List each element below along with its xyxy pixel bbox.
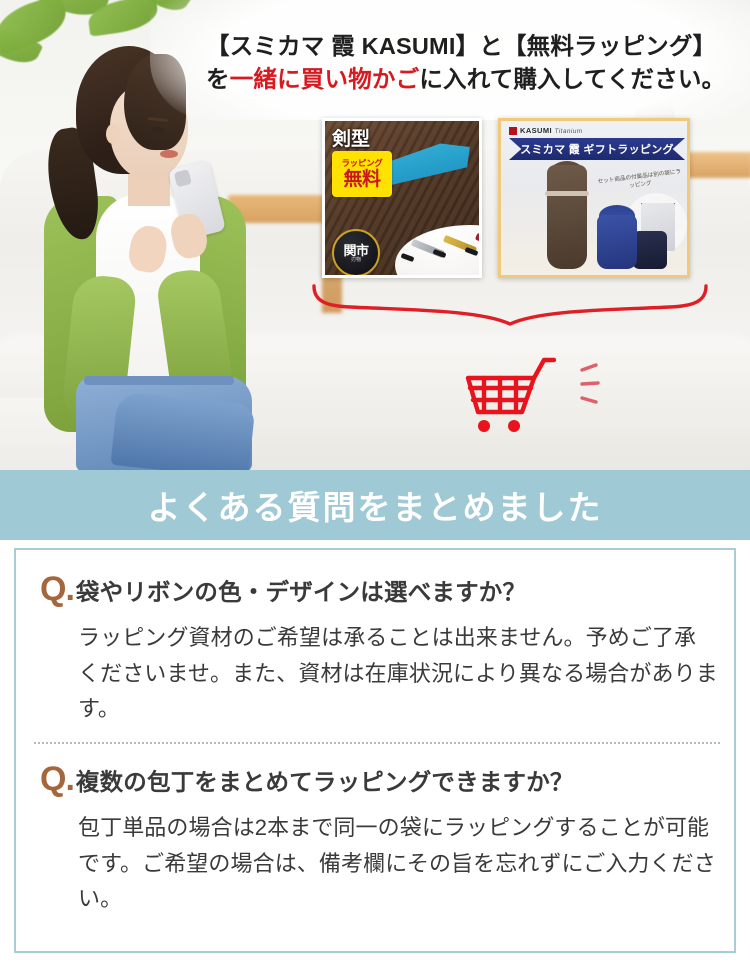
headline-line-2-prefix: を — [206, 66, 230, 92]
headline-highlight: 一緒に買い物かご — [230, 66, 420, 92]
seki-city-seal: 関市 刃物 — [332, 229, 380, 277]
bag-ribbon-tie — [545, 191, 589, 196]
wrapping-note-text: セット商品の付属品は別の袋にラッピング — [596, 168, 683, 195]
jeans-leg — [111, 391, 256, 470]
hero-headline: 【スミカマ 霞 KASUMI】と【無料ラッピング】 を一緒に買い物かごに入れて購… — [206, 30, 740, 97]
faq-item-1: Q. 袋やリボンの色・デザインは選べますか？ ラッピング資材のご希望は承ることは… — [16, 572, 734, 727]
faq-banner: よくある質問をまとめました — [0, 470, 750, 540]
kasumi-brand-name: KASUMI — [520, 126, 552, 135]
faq-answer-2: 包丁単品の場合は2本まで同一の袋にラッピングすることが可能です。ご希望の場合は、… — [78, 810, 718, 917]
faq-question-row-2: Q. 複数の包丁をまとめてラッピングできますか？ — [16, 762, 734, 796]
blue-gift-bag — [597, 215, 637, 269]
thumbnail-gift-wrapping[interactable]: KASUMI Titanium スミカマ 霞 ギフトラッピング セット商品の付属… — [498, 118, 690, 278]
red-bracket-arrow — [310, 282, 710, 328]
phone-camera — [174, 169, 192, 187]
headline-line-1: 【スミカマ 霞 KASUMI】と【無料ラッピング】 — [206, 30, 740, 63]
question-mark-label: Q. — [40, 762, 74, 796]
ear — [106, 124, 120, 144]
faq-question-2: 複数の包丁をまとめてラッピングできますか？ — [76, 768, 574, 796]
faq-question-1: 袋やリボンの色・デザインは選べますか？ — [76, 578, 526, 606]
kasumi-brand-sub: Titanium — [554, 128, 582, 135]
faq-box: Q. 袋やリボンの色・デザインは選べますか？ ラッピング資材のご希望は承ることは… — [14, 548, 736, 953]
faq-item-2: Q. 複数の包丁をまとめてラッピングできますか？ 包丁単品の場合は2本まで同一の… — [16, 762, 734, 917]
gift-wrapping-ribbon: スミカマ 霞 ギフトラッピング — [509, 138, 685, 160]
brown-gift-bag — [547, 165, 587, 269]
headline-line-2: を一緒に買い物かごに入れて購入してください。 — [206, 63, 740, 96]
product-thumbnails: 剣型 ラッピング 無料 関市 刃物 KASUMI Titanium スミカマ 霞… — [322, 118, 690, 286]
thumbnail-knife[interactable]: 剣型 ラッピング 無料 関市 刃物 — [322, 118, 482, 278]
lips — [160, 150, 178, 158]
seal-main-text: 関市 — [343, 244, 368, 257]
thumbnail-knife-title: 剣型 — [332, 124, 370, 151]
kasumi-logo-square — [509, 127, 517, 135]
sparkle-lines-icon — [578, 362, 612, 406]
navy-pouch — [633, 231, 667, 269]
seal-sub-text: 刃物 — [351, 258, 361, 263]
badge-line-1: ラッピング — [341, 159, 382, 168]
headline-line-1-text: 【スミカマ 霞 KASUMI】と【無料ラッピング】 — [206, 33, 716, 59]
headline-line-2-suffix: に入れて購入してください。 — [419, 66, 725, 92]
promo-page: 【スミカマ 霞 KASUMI】と【無料ラッピング】 を一緒に買い物かごに入れて購… — [0, 0, 750, 967]
waistband — [84, 376, 234, 385]
faq-question-row-1: Q. 袋やリボンの色・デザインは選べますか？ — [16, 572, 734, 606]
kasumi-brand-logo: KASUMI Titanium — [509, 126, 583, 135]
ribbon-text: スミカマ 霞 ギフトラッピング — [520, 141, 674, 157]
shopping-cart-icon — [464, 356, 556, 434]
faq-divider — [34, 742, 720, 744]
badge-line-2: 無料 — [343, 170, 380, 189]
question-mark-label: Q. — [40, 572, 74, 606]
faq-answer-1: ラッピング資材のご希望は承ることは出来ません。予めご了承くださいませ。また、資材… — [78, 620, 718, 727]
faq-banner-title: よくある質問をまとめました — [148, 481, 603, 529]
free-wrapping-badge: ラッピング 無料 — [332, 151, 392, 197]
hero-section: 【スミカマ 霞 KASUMI】と【無料ラッピング】 を一緒に買い物かごに入れて購… — [0, 0, 750, 470]
